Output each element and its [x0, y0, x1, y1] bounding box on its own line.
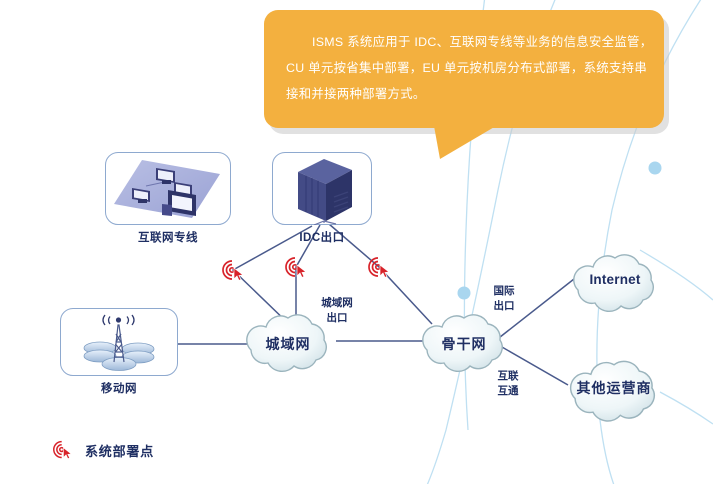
deployment-point-icon-3[interactable]	[367, 255, 392, 280]
isms-description-callout: ISMS 系统应用于 IDC、互联网专线等业务的信息安全监管， CU 单元按省集…	[264, 10, 664, 128]
edge-note-interconnect-line2: 互通	[486, 384, 530, 399]
edge-note-metro-exit: 城域网 出口	[306, 296, 368, 326]
disk-center	[102, 358, 136, 371]
edge-note-international-exit-line2: 出口	[482, 299, 526, 314]
deployment-point-icon-1[interactable]	[221, 258, 246, 283]
edge-note-international-exit-line1: 国际	[482, 284, 526, 299]
legend-label: 系统部署点	[85, 441, 154, 460]
deployment-point-icon	[52, 438, 74, 462]
server-rack-icon	[288, 157, 360, 225]
cursor-arrow	[297, 265, 306, 278]
edge-note-international-exit: 国际 出口	[482, 284, 526, 314]
callout-tail	[434, 126, 504, 160]
cloud-label-backbone-net: 骨干网	[412, 334, 516, 354]
edge-note-metro-exit-line2: 出口	[306, 311, 368, 326]
edge-note-interconnect-line1: 互联	[486, 369, 530, 384]
edge-note-interconnect: 互联 互通	[486, 369, 530, 399]
cloud-label-other-carrier: 其他运营商	[556, 378, 672, 398]
callout-line-2: CU 单元按省集中部署，EU 单元按机房分布式部署，系统支持串	[286, 55, 642, 81]
cloud-label-metro-net: 城域网	[236, 334, 340, 354]
cursor-arrow	[63, 448, 71, 459]
lan-network-icon	[112, 156, 224, 222]
deployment-point-icon-2[interactable]	[284, 255, 309, 280]
callout-body: ISMS 系统应用于 IDC、互联网专线等业务的信息安全监管， CU 单元按省集…	[264, 10, 664, 128]
device-label-mobile-net: 移动网	[60, 380, 178, 396]
network-topology-diagram: 互联网专线 IDC出口	[0, 0, 713, 484]
cursor-arrow	[234, 268, 243, 281]
device-label-idc-exit: IDC出口	[272, 229, 372, 245]
device-label-internet-line: 互联网专线	[105, 229, 231, 245]
cursor-arrow	[380, 265, 389, 278]
callout-line-3: 接和并接两种部署方式。	[286, 81, 642, 107]
cloud-label-internet: Internet	[560, 272, 670, 287]
edge-note-metro-exit-line1: 城域网	[306, 296, 368, 311]
callout-line-1: ISMS 系统应用于 IDC、互联网专线等业务的信息安全监管，	[286, 29, 642, 55]
cell-tower-icon	[78, 312, 160, 374]
legend: 系统部署点	[52, 438, 154, 462]
